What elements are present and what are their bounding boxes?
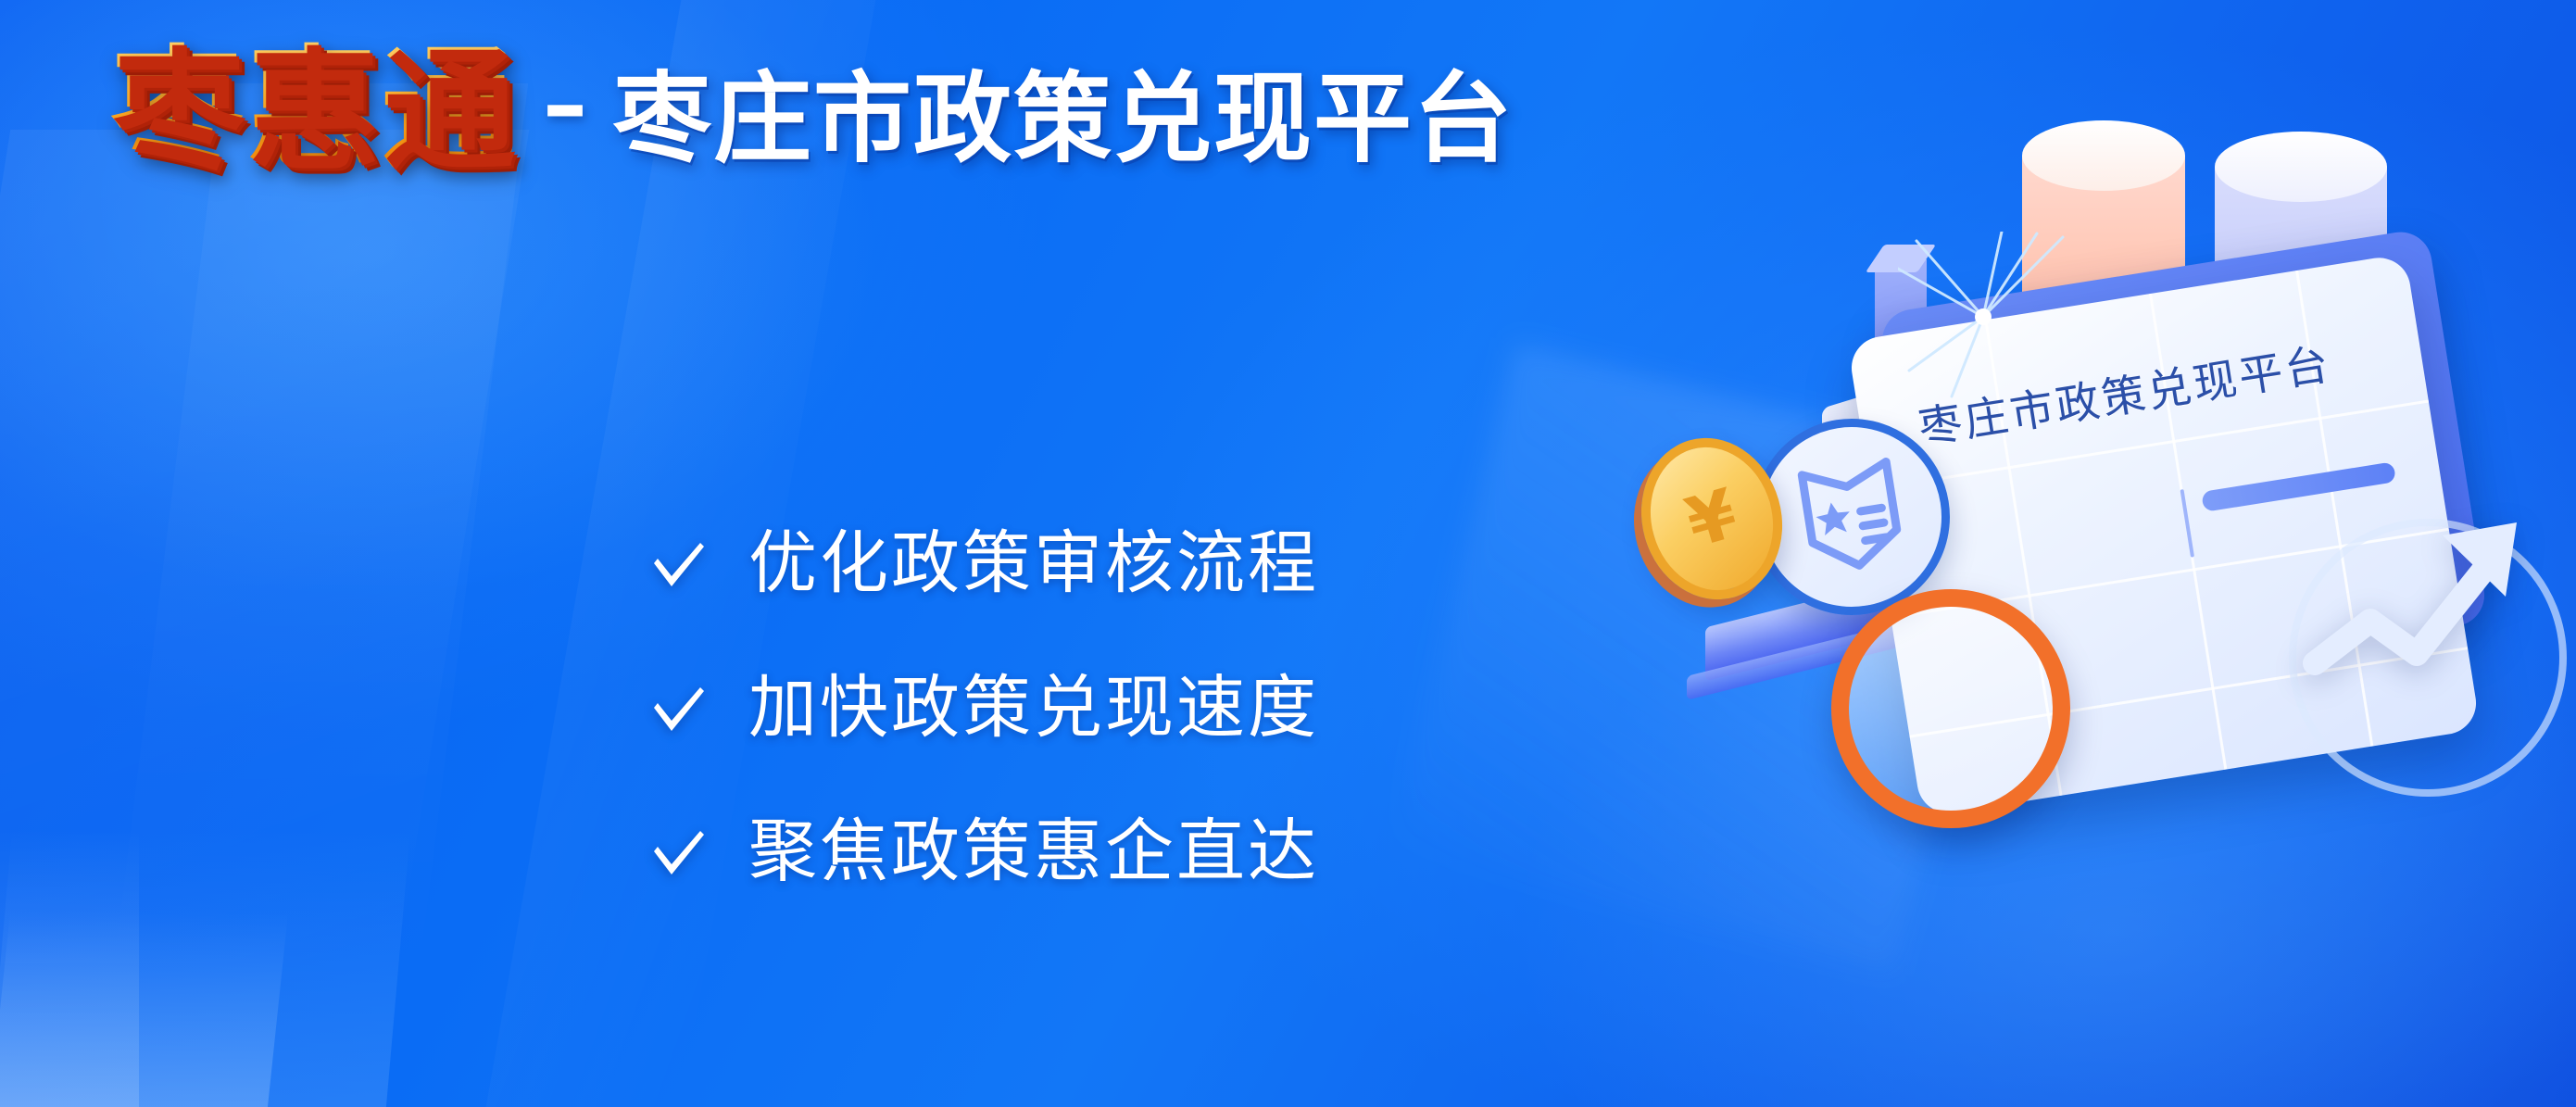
platform-illustration: 枣庄市政策兑现平台 ¥ bbox=[1650, 0, 2576, 1107]
check-icon bbox=[648, 535, 706, 593]
check-icon bbox=[648, 680, 706, 737]
background-slab-2 bbox=[111, 83, 528, 991]
check-icon bbox=[648, 824, 706, 881]
yen-coin: ¥ bbox=[1623, 421, 1802, 617]
feature-label: 聚焦政策惠企直达 bbox=[748, 816, 1319, 888]
feature-label: 优化政策审核流程 bbox=[748, 528, 1319, 600]
banner-title: 枣惠通 – 枣庄市政策兑现平台 bbox=[111, 41, 1514, 181]
platform-subtitle: 枣庄市政策兑现平台 bbox=[613, 67, 1514, 180]
cylinder-pink-cap bbox=[2022, 120, 2185, 191]
coin-symbol: ¥ bbox=[1623, 421, 1802, 617]
feature-label: 加快政策兑现速度 bbox=[748, 673, 1319, 745]
cylinder-blue-cap bbox=[2215, 132, 2387, 202]
list-item: 优化政策审核流程 bbox=[648, 528, 1319, 600]
title-separator: – bbox=[543, 60, 587, 181]
orange-ring bbox=[1831, 589, 2070, 828]
growth-arrow-icon bbox=[2298, 482, 2576, 760]
sparkle-icon bbox=[1898, 232, 2065, 398]
list-item: 聚焦政策惠企直达 bbox=[648, 816, 1319, 888]
bottom-left-block-2 bbox=[0, 829, 139, 1107]
policy-platform-banner: 枣惠通 – 枣庄市政策兑现平台 优化政策审核流程 加快政策兑现速度 bbox=[0, 0, 2576, 1107]
list-item: 加快政策兑现速度 bbox=[648, 673, 1319, 745]
card-tick-mark bbox=[2180, 489, 2194, 558]
feature-list: 优化政策审核流程 加快政策兑现速度 聚焦政策惠企直达 bbox=[648, 528, 1319, 888]
brand-name: 枣惠通 bbox=[111, 41, 517, 181]
